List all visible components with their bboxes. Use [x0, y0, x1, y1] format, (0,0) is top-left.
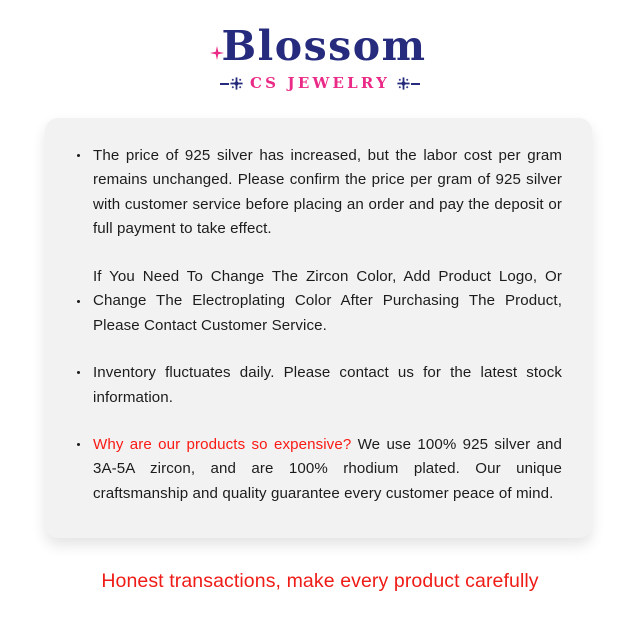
ornament-dash-left	[220, 83, 229, 85]
list-item: Why are our products so expensive? We us…	[76, 433, 562, 506]
bullet-dot-icon	[77, 154, 80, 157]
page-title: Blossom	[214, 26, 427, 67]
list-item: If You Need To Change The Zircon Color, …	[76, 265, 562, 338]
notice-text: The price of 925 silver has increased, b…	[93, 147, 562, 237]
notice-text: Inventory fluctuates daily. Please conta…	[93, 364, 562, 405]
list-item: The price of 925 silver has increased, b…	[76, 144, 562, 242]
bullet-dot-icon	[77, 443, 80, 446]
brand-subtitle-row: CS JEWELRY	[0, 76, 640, 91]
brand-subtitle: CS JEWELRY	[250, 76, 390, 91]
brand-title-row: Blossom	[214, 26, 427, 67]
notice-card: The price of 925 silver has increased, b…	[45, 118, 592, 538]
list-item: Inventory fluctuates daily. Please conta…	[76, 361, 562, 410]
notice-highlight: Why are our products so expensive?	[93, 436, 351, 453]
bullet-dot-icon	[77, 371, 80, 374]
notice-bullet-list: The price of 925 silver has increased, b…	[76, 144, 562, 506]
sparkle-icon	[210, 46, 224, 60]
snowflake-ornament-icon-right	[397, 77, 420, 90]
bullet-dot-icon	[77, 300, 80, 303]
snowflake-ornament-icon-left	[220, 77, 243, 90]
notice-text: If You Need To Change The Zircon Color, …	[93, 268, 562, 334]
brand-header: Blossom CS JEWELRY	[0, 0, 640, 91]
footer-tagline: Honest transactions, make every product …	[0, 570, 640, 593]
ornament-dash-right	[411, 83, 420, 85]
